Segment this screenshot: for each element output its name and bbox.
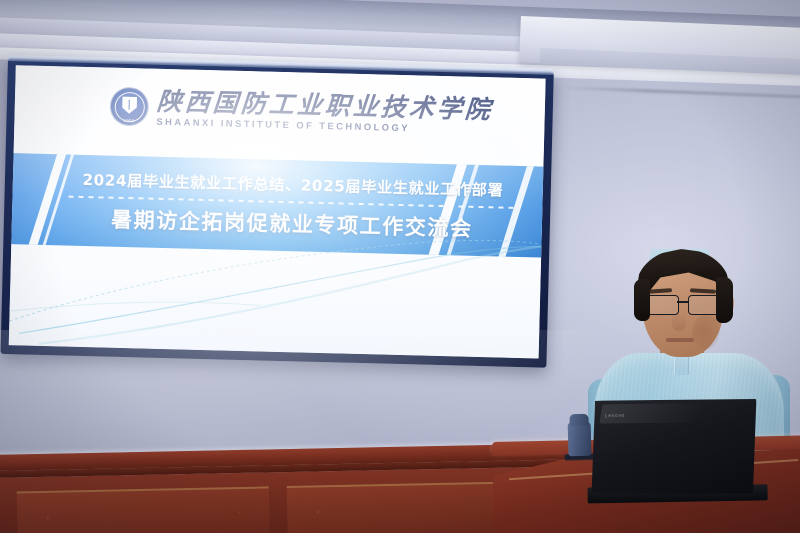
banner-text-block: 2024届毕业生就业工作总结、2025届毕业生就业工作部署 暑期访企拓岗促就业专…: [68, 168, 518, 244]
projection-screen-surface: 1958 陕西国防工业职业技术学院 SHAANXI INSTITUTE OF T…: [9, 65, 546, 358]
slide-header: 1958 陕西国防工业职业技术学院 SHAANXI INSTITUTE OF T…: [110, 88, 493, 135]
glasses-bridge: [677, 301, 688, 303]
laptop-computer[interactable]: Lenovo: [588, 395, 759, 499]
thermos-body: [568, 422, 592, 457]
projection-screen[interactable]: 1958 陕西国防工业职业技术学院 SHAANXI INSTITUTE OF T…: [1, 58, 554, 368]
presenter-hair-side-left: [634, 279, 650, 321]
crest-founding-year: 1958: [110, 117, 147, 123]
thermos-cap: [569, 414, 588, 426]
rostrum-panel-1: [17, 486, 271, 533]
presenter-mouth: [666, 338, 694, 342]
presentation-slide: 1958 陕西国防工业职业技术学院 SHAANXI INSTITUTE OF T…: [9, 65, 546, 358]
face-shading: [692, 315, 720, 349]
institution-name-block: 陕西国防工业职业技术学院 SHAANXI INSTITUTE OF TECHNO…: [156, 89, 493, 135]
university-crest-icon: 1958: [110, 88, 148, 126]
presenter-nose: [672, 313, 686, 331]
laptop-brand-label: Lenovo: [605, 413, 625, 420]
slide-title-banner: 2024届毕业生就业工作总结、2025届毕业生就业工作部署 暑期访企拓岗促就业专…: [11, 153, 543, 257]
crest-shield-shape: [122, 97, 137, 114]
presenter-hair-side-right: [716, 277, 733, 323]
conference-room-photo: 1958 陕西国防工业职业技术学院 SHAANXI INSTITUTE OF T…: [0, 0, 800, 533]
